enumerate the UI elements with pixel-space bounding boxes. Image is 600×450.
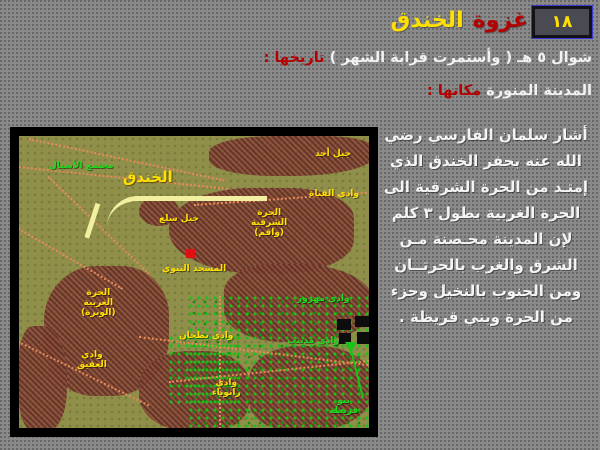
map-label-jabal-sala: جبل سلع bbox=[159, 214, 199, 224]
body-line-7: ومن الجنوب بالنخيل وجزء bbox=[378, 278, 594, 304]
body-line-2: الله عنه بحفر الخندق الذي bbox=[378, 148, 594, 174]
slide-root: ١٨ غزوة الخندق شوال ٥ هـ ( وأستمرت قرابة… bbox=[0, 0, 600, 450]
harra-patch bbox=[19, 326, 67, 428]
map-label-majtama-asyal: مجتمع الأسيال bbox=[49, 161, 114, 171]
body-line-5: لإن المدينة محـصنة مـن bbox=[378, 226, 594, 252]
mosque-marker-icon bbox=[186, 249, 195, 258]
map-label-masjid-nabawi: المسجد النبوي bbox=[162, 264, 226, 274]
title-word-ghazwa: غزوة bbox=[473, 8, 528, 33]
map-label-wadi-batahan: وادي بطحان bbox=[179, 331, 233, 341]
lesson-number-badge: ١٨ bbox=[532, 6, 592, 38]
map-label-trench: الخندق bbox=[123, 172, 173, 182]
place-label: مكانها : bbox=[427, 83, 481, 99]
qurayza-fort-icon bbox=[355, 316, 369, 327]
qurayza-fort-icon bbox=[357, 332, 369, 344]
map-label-wadi-muhzur: وادي مهزوز bbox=[297, 294, 350, 304]
map-label-wadi-ranuna: وادي رانوناء bbox=[212, 378, 241, 398]
date-line: شوال ٥ هـ ( وأستمرت قرابة الشهر ) تاريخه… bbox=[264, 50, 592, 66]
map-label-harra-sharqiya: الحرة الشرقية (واقم) bbox=[251, 208, 287, 238]
date-value: شوال ٥ هـ ( وأستمرت قرابة الشهر ) bbox=[330, 50, 592, 66]
map-canvas: الخندق مجتمع الأسيال جبل أحد وادي القناة… bbox=[19, 136, 369, 428]
body-line-4: الحرة الغربية بطول ٣ كلم bbox=[378, 200, 594, 226]
date-label: تاريخها : bbox=[264, 50, 325, 66]
wadi-line bbox=[184, 296, 221, 428]
place-line: المدينة المنورة مكانها : bbox=[427, 83, 592, 99]
map-frame: الخندق مجتمع الأسيال جبل أحد وادي القناة… bbox=[10, 127, 378, 437]
body-line-3: إمتـد من الحرة الشرقية الى bbox=[378, 174, 594, 200]
body-line-8: من الحرة وبني قريظة . bbox=[378, 304, 594, 330]
page-title: غزوة الخندق bbox=[391, 8, 528, 33]
map-label-jabal-uhud: جبل أحد bbox=[315, 149, 351, 159]
map-label-harra-gharbiya: الحرة الغربية (الوبرة) bbox=[81, 288, 116, 318]
map-label-wadi-mudhaynib: وادي مذينب bbox=[287, 336, 339, 346]
place-value: المدينة المنورة bbox=[486, 83, 592, 99]
title-word-khandaq: الخندق bbox=[391, 8, 464, 33]
body-line-1: أشار سلمان الفارسي رضي bbox=[378, 122, 594, 148]
qurayza-fort-icon bbox=[337, 319, 351, 330]
map-label-banu-qurayza: بنو قريظة bbox=[329, 396, 358, 416]
lesson-number-text: ١٨ bbox=[552, 12, 573, 32]
map-label-wadi-qanat: وادي القناة bbox=[309, 189, 359, 199]
body-paragraph: أشار سلمان الفارسي رضي الله عنه بحفر الخ… bbox=[378, 122, 594, 330]
map-label-wadi-aqiq: وادي العقيق bbox=[77, 350, 107, 370]
body-line-6: الشرق والغرب بالحرتــان bbox=[378, 252, 594, 278]
